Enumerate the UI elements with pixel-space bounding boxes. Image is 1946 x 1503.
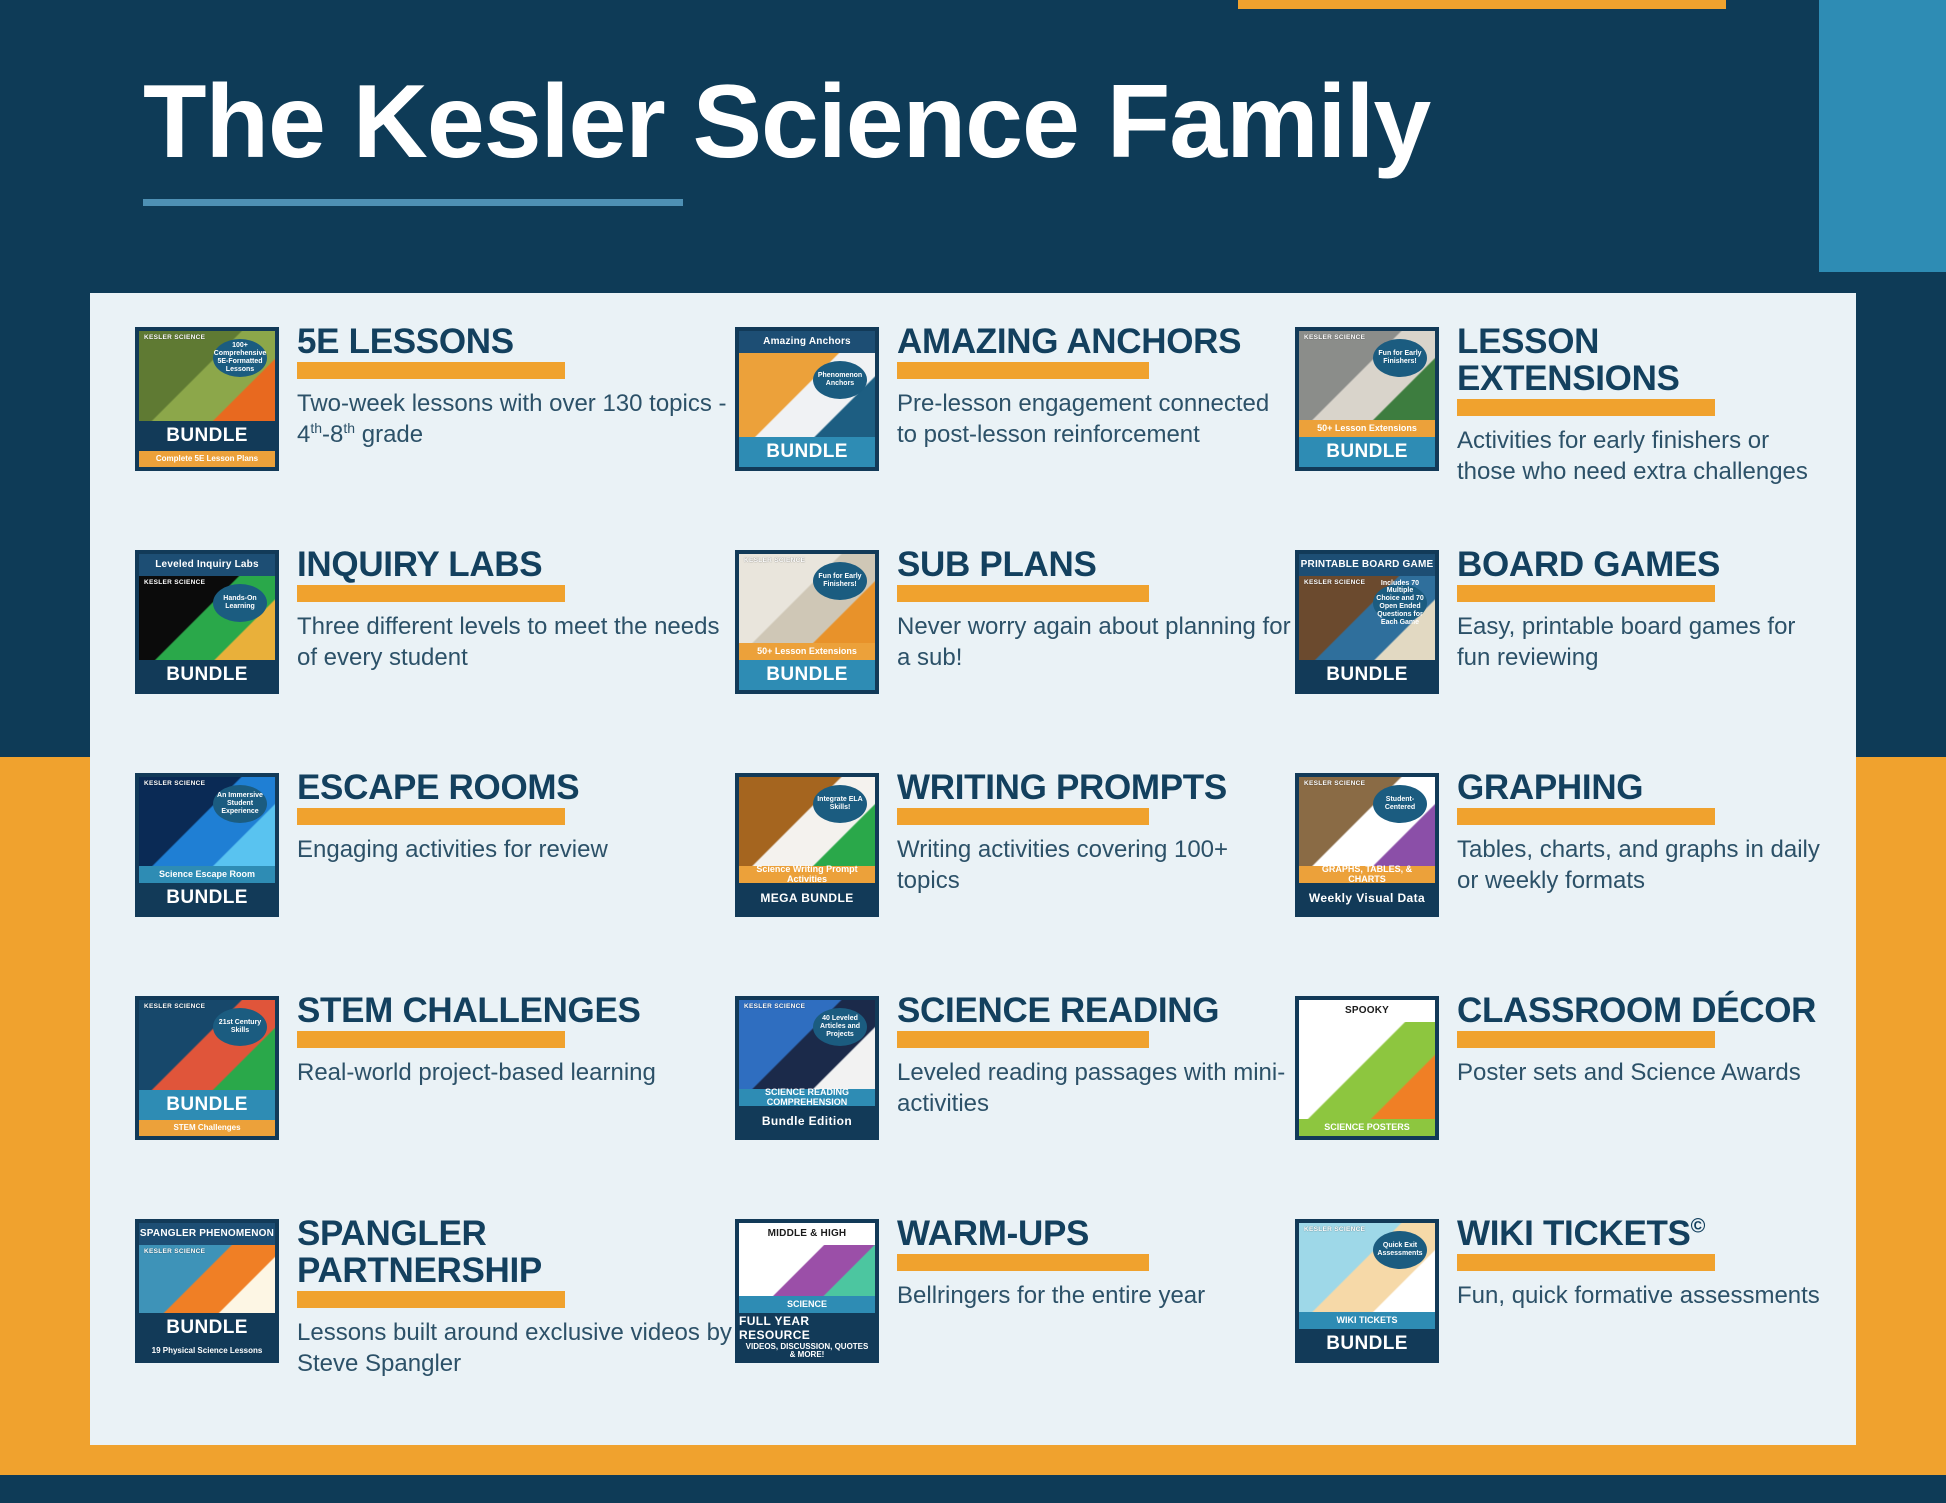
product-title-underline — [1457, 1254, 1715, 1271]
product-item[interactable]: KESLER SCIENCEPRINTABLE BOARD GAMEInclud… — [1295, 536, 1825, 759]
thumbnail-mid-label: 50+ Lesson Extensions — [1299, 420, 1435, 437]
thumbnail-mid-label: SCIENCE READING COMPREHENSION — [739, 1089, 875, 1106]
product-item[interactable]: KESLER SCIENCELeveled Inquiry LabsHands-… — [135, 536, 735, 759]
kesler-science-logo: KESLER SCIENCE — [144, 1249, 205, 1256]
thumbnail-badge: Fun for Early Finishers! — [1373, 339, 1427, 377]
product-item[interactable]: KESLER SCIENCE21st Century SkillsBUNDLES… — [135, 982, 735, 1205]
thumbnail-badge: An Immersive Student Experience — [213, 785, 267, 823]
product-description: Easy, printable board games for fun revi… — [1457, 612, 1825, 673]
product-title-underline — [897, 362, 1149, 379]
product-title-underline — [297, 362, 565, 379]
thumbnail-bundle-label: BUNDLE — [139, 883, 275, 913]
product-description: Writing activities covering 100+ topics — [897, 835, 1295, 896]
product-text-block: INQUIRY LABSThree different levels to me… — [279, 544, 735, 674]
product-title: AMAZING ANCHORS — [897, 323, 1295, 360]
kesler-science-logo: KESLER SCIENCE — [1304, 335, 1365, 342]
thumbnail-mid-label: SCIENCE — [739, 1296, 875, 1313]
thumbnail-sub-label: STEM Challenges — [139, 1120, 275, 1136]
kesler-science-logo: KESLER SCIENCE — [1304, 1227, 1365, 1234]
product-title: WRITING PROMPTS — [897, 769, 1295, 806]
product-text-block: WARM-UPSBellringers for the entire year — [879, 1213, 1295, 1312]
product-thumbnail[interactable]: Amazing AnchorsPhenomenon AnchorsBUNDLE — [735, 327, 879, 471]
kesler-science-logo: KESLER SCIENCE — [744, 558, 805, 565]
product-title: STEM CHALLENGES — [297, 992, 735, 1029]
thumbnail-sub-label: VIDEOS, DISCUSSION, QUOTES & MORE! — [739, 1343, 875, 1359]
product-title: LESSON EXTENSIONS — [1457, 323, 1825, 397]
product-text-block: SCIENCE READINGLeveled reading passages … — [879, 990, 1295, 1120]
kesler-science-logo: KESLER SCIENCE — [144, 335, 205, 342]
product-item[interactable]: KESLER SCIENCEQuick Exit AssessmentsWIKI… — [1295, 1205, 1825, 1428]
thumbnail-mid-label: 50+ Lesson Extensions — [739, 643, 875, 660]
product-thumbnail[interactable]: KESLER SCIENCEFun for Early Finishers!50… — [735, 550, 879, 694]
thumbnail-top-label: SPOOKY — [1299, 1000, 1435, 1022]
thumbnail-badge: Student-Centered — [1373, 785, 1427, 823]
thumbnail-sub-label: 19 Physical Science Lessons — [139, 1343, 275, 1359]
thumbnail-badge: 100+ Comprehensive 5E-Formatted Lessons — [213, 339, 267, 377]
kesler-science-logo: KESLER SCIENCE — [144, 580, 205, 587]
product-title: SUB PLANS — [897, 546, 1295, 583]
product-text-block: BOARD GAMESEasy, printable board games f… — [1439, 544, 1825, 674]
thumbnail-bundle-label: BUNDLE — [1299, 1329, 1435, 1359]
product-title-underline — [897, 1031, 1149, 1048]
thumbnail-badge: Integrate ELA Skills! — [813, 785, 867, 823]
copyright-superscript: © — [1691, 1215, 1705, 1237]
kesler-science-logo: KESLER SCIENCE — [144, 1004, 205, 1011]
thumbnail-artwork — [1299, 1022, 1435, 1119]
product-title-underline — [897, 585, 1149, 602]
thumbnail-artwork — [739, 1245, 875, 1296]
product-description: Three different levels to meet the needs… — [297, 612, 735, 673]
product-thumbnail[interactable]: Integrate ELA Skills!Science Writing Pro… — [735, 773, 879, 917]
product-title: ESCAPE ROOMS — [297, 769, 735, 806]
product-title-underline — [897, 1254, 1149, 1271]
kesler-science-logo: KESLER SCIENCE — [1304, 580, 1365, 587]
product-item[interactable]: KESLER SCIENCEFun for Early Finishers!50… — [735, 536, 1295, 759]
product-item[interactable]: KESLER SCIENCESPANGLER PHENOMENONBUNDLE1… — [135, 1205, 735, 1428]
product-text-block: SUB PLANSNever worry again about plannin… — [879, 544, 1295, 674]
product-description: Tables, charts, and graphs in daily or w… — [1457, 835, 1825, 896]
product-item[interactable]: Amazing AnchorsPhenomenon AnchorsBUNDLEA… — [735, 313, 1295, 536]
product-item[interactable]: KESLER SCIENCEStudent-CenteredGRAPHS, TA… — [1295, 759, 1825, 982]
thumbnail-badge: 21st Century Skills — [213, 1008, 267, 1046]
product-thumbnail[interactable]: KESLER SCIENCEAn Immersive Student Exper… — [135, 773, 279, 917]
product-title: SPANGLER PARTNERSHIP — [297, 1215, 735, 1289]
product-item[interactable]: KESLER SCIENCE40 Leveled Articles and Pr… — [735, 982, 1295, 1205]
product-title-underline — [297, 808, 565, 825]
product-title: WARM-UPS — [897, 1215, 1295, 1252]
product-title: INQUIRY LABS — [297, 546, 735, 583]
background-teal-accent-block — [1819, 0, 1946, 272]
background-navy-footer — [0, 1475, 1946, 1503]
product-text-block: AMAZING ANCHORSPre-lesson engagement con… — [879, 321, 1295, 451]
product-description: Lessons built around exclusive videos by… — [297, 1318, 735, 1379]
ordinal-suffix: th — [310, 420, 322, 436]
product-item[interactable]: SPOOKYSCIENCE POSTERSCLASSROOM DÉCORPost… — [1295, 982, 1825, 1205]
product-title-underline — [297, 1031, 565, 1048]
product-thumbnail[interactable]: KESLER SCIENCELeveled Inquiry LabsHands-… — [135, 550, 279, 694]
kesler-science-logo: KESLER SCIENCE — [744, 1004, 805, 1011]
thumbnail-mid-label: Science Writing Prompt Activities — [739, 866, 875, 883]
thumbnail-top-label: PRINTABLE BOARD GAME — [1299, 554, 1435, 576]
product-text-block: WIKI TICKETS©Fun, quick formative assess… — [1439, 1213, 1825, 1312]
thumbnail-bundle-label: BUNDLE — [139, 1090, 275, 1120]
thumbnail-mid-label: WIKI TICKETS — [1299, 1312, 1435, 1329]
product-thumbnail[interactable]: KESLER SCIENCE100+ Comprehensive 5E-Form… — [135, 327, 279, 471]
product-description: Poster sets and Science Awards — [1457, 1058, 1825, 1089]
thumbnail-bundle-label: BUNDLE — [139, 421, 275, 451]
product-text-block: 5E LESSONSTwo-week lessons with over 130… — [279, 321, 735, 451]
kesler-science-logo: KESLER SCIENCE — [144, 781, 205, 788]
product-title-underline — [1457, 808, 1715, 825]
product-thumbnail[interactable]: KESLER SCIENCESPANGLER PHENOMENONBUNDLE1… — [135, 1219, 279, 1363]
thumbnail-bundle-label: Weekly Visual Data — [1299, 883, 1435, 913]
thumbnail-sub-label: Complete 5E Lesson Plans — [139, 451, 275, 467]
product-title-underline — [897, 808, 1149, 825]
product-text-block: CLASSROOM DÉCORPoster sets and Science A… — [1439, 990, 1825, 1089]
product-description: Bellringers for the entire year — [897, 1281, 1295, 1312]
product-title: GRAPHING — [1457, 769, 1825, 806]
kesler-science-logo: KESLER SCIENCE — [1304, 781, 1365, 788]
thumbnail-top-label: MIDDLE & HIGH — [739, 1223, 875, 1245]
product-title-underline — [297, 1291, 565, 1308]
product-description: Fun, quick formative assessments — [1457, 1281, 1825, 1312]
thumbnail-badge: Phenomenon Anchors — [813, 361, 867, 399]
product-item[interactable]: MIDDLE & HIGHSCIENCEFULL YEAR RESOURCEVI… — [735, 1205, 1295, 1428]
product-thumbnail[interactable]: KESLER SCIENCE21st Century SkillsBUNDLES… — [135, 996, 279, 1140]
thumbnail-bundle-label: Bundle Edition — [739, 1106, 875, 1136]
thumbnail-top-label: SPANGLER PHENOMENON — [139, 1223, 275, 1245]
thumbnail-bundle-label: BUNDLE — [739, 437, 875, 467]
thumbnail-badge: Fun for Early Finishers! — [813, 562, 867, 600]
product-thumbnail[interactable]: SPOOKYSCIENCE POSTERS — [1295, 996, 1439, 1140]
page-header: The Kesler Science Family — [0, 0, 1800, 290]
product-title: SCIENCE READING — [897, 992, 1295, 1029]
thumbnail-top-label: Amazing Anchors — [739, 331, 875, 353]
product-text-block: LESSON EXTENSIONSActivities for early fi… — [1439, 321, 1825, 488]
thumbnail-bundle-label: BUNDLE — [139, 1313, 275, 1343]
product-description: Never worry again about planning for a s… — [897, 612, 1295, 673]
product-text-block: ESCAPE ROOMSEngaging activities for revi… — [279, 767, 735, 866]
product-description: Pre-lesson engagement connected to post-… — [897, 389, 1295, 450]
thumbnail-bundle-label: FULL YEAR RESOURCE — [739, 1313, 875, 1343]
product-title-underline — [1457, 1031, 1715, 1048]
thumbnail-mid-label: SCIENCE POSTERS — [1299, 1119, 1435, 1136]
product-thumbnail[interactable]: KESLER SCIENCEFun for Early Finishers!50… — [1295, 327, 1439, 471]
product-thumbnail[interactable]: KESLER SCIENCEPRINTABLE BOARD GAMEInclud… — [1295, 550, 1439, 694]
thumbnail-bundle-label: BUNDLE — [1299, 660, 1435, 690]
product-title: 5E LESSONS — [297, 323, 735, 360]
product-description: Engaging activities for review — [297, 835, 735, 866]
product-thumbnail[interactable]: KESLER SCIENCEQuick Exit AssessmentsWIKI… — [1295, 1219, 1439, 1363]
products-grid: KESLER SCIENCE100+ Comprehensive 5E-Form… — [135, 313, 1825, 1428]
product-title-underline — [297, 585, 565, 602]
thumbnail-badge: 40 Leveled Articles and Projects — [813, 1008, 867, 1046]
product-title: BOARD GAMES — [1457, 546, 1825, 583]
product-item[interactable]: KESLER SCIENCE100+ Comprehensive 5E-Form… — [135, 313, 735, 536]
product-thumbnail[interactable]: MIDDLE & HIGHSCIENCEFULL YEAR RESOURCEVI… — [735, 1219, 879, 1363]
product-thumbnail[interactable]: KESLER SCIENCE40 Leveled Articles and Pr… — [735, 996, 879, 1140]
thumbnail-mid-label: Science Escape Room — [139, 866, 275, 883]
thumbnail-bundle-label: BUNDLE — [739, 660, 875, 690]
product-text-block: STEM CHALLENGESReal-world project-based … — [279, 990, 735, 1089]
thumbnail-top-label: Leveled Inquiry Labs — [139, 554, 275, 576]
product-description: Activities for early finishers or those … — [1457, 426, 1825, 487]
product-title: CLASSROOM DÉCOR — [1457, 992, 1825, 1029]
page-title: The Kesler Science Family — [143, 68, 1800, 177]
product-title-underline — [1457, 585, 1715, 602]
thumbnail-bundle-label: BUNDLE — [1299, 437, 1435, 467]
thumbnail-badge: Quick Exit Assessments — [1373, 1231, 1427, 1269]
product-thumbnail[interactable]: KESLER SCIENCEStudent-CenteredGRAPHS, TA… — [1295, 773, 1439, 917]
product-title-underline — [1457, 399, 1715, 416]
product-item[interactable]: KESLER SCIENCEFun for Early Finishers!50… — [1295, 313, 1825, 536]
products-panel: KESLER SCIENCE100+ Comprehensive 5E-Form… — [90, 293, 1856, 1445]
product-text-block: GRAPHINGTables, charts, and graphs in da… — [1439, 767, 1825, 897]
thumbnail-badge: Includes 70 Multiple Choice and 70 Open … — [1373, 584, 1427, 622]
ordinal-suffix: th — [343, 420, 355, 436]
product-text-block: WRITING PROMPTSWriting activities coveri… — [879, 767, 1295, 897]
product-title: WIKI TICKETS© — [1457, 1215, 1825, 1252]
thumbnail-bundle-label: BUNDLE — [139, 660, 275, 690]
product-item[interactable]: Integrate ELA Skills!Science Writing Pro… — [735, 759, 1295, 982]
product-description: Real-world project-based learning — [297, 1058, 735, 1089]
thumbnail-mid-label: GRAPHS, TABLES, & CHARTS — [1299, 866, 1435, 883]
thumbnail-bundle-label: MEGA BUNDLE — [739, 883, 875, 913]
product-description: Leveled reading passages with mini-activ… — [897, 1058, 1295, 1119]
product-item[interactable]: KESLER SCIENCEAn Immersive Student Exper… — [135, 759, 735, 982]
product-description: Two-week lessons with over 130 topics - … — [297, 389, 735, 450]
product-text-block: SPANGLER PARTNERSHIPLessons built around… — [279, 1213, 735, 1380]
title-underline-rule — [143, 199, 683, 206]
thumbnail-badge: Hands-On Learning — [213, 584, 267, 622]
